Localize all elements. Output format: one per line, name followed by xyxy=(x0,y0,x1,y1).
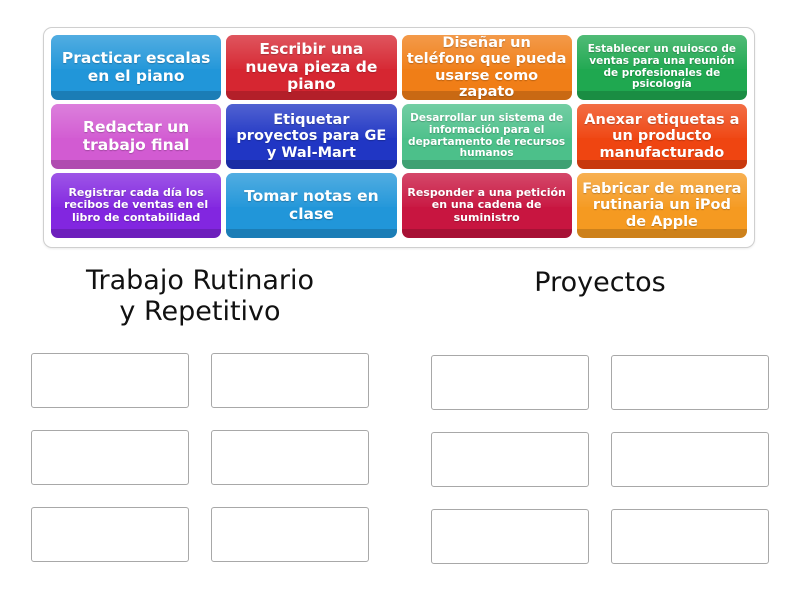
drop-slot[interactable] xyxy=(211,353,369,408)
group-slots-proyectos xyxy=(431,355,769,564)
tile-row: Registrar cada día los recibos de ventas… xyxy=(51,173,747,238)
tile-redactar-trabajo-final[interactable]: Redactar un trabajo final xyxy=(51,104,221,169)
drop-slot[interactable] xyxy=(431,509,589,564)
group-title-line1: Proyectos xyxy=(534,267,665,298)
drop-slot[interactable] xyxy=(431,432,589,487)
drop-slot[interactable] xyxy=(611,509,769,564)
drop-slot[interactable] xyxy=(31,430,189,485)
group-title-line1: Trabajo Rutinario xyxy=(86,265,314,296)
tile-practicar-escalas[interactable]: Practicar escalas en el piano xyxy=(51,35,221,100)
tile-anexar-etiquetas[interactable]: Anexar etiquetas a un producto manufactu… xyxy=(577,104,747,169)
tile-label: Escribir una nueva pieza de piano xyxy=(231,41,391,93)
tile-label: Anexar etiquetas a un producto manufactu… xyxy=(582,112,742,161)
tile-responder-peticion[interactable]: Responder a una petición en una cadena d… xyxy=(402,173,572,238)
drop-slot[interactable] xyxy=(211,430,369,485)
tile-desarrollar-sistema-informacion[interactable]: Desarrollar un sistema de información pa… xyxy=(402,104,572,169)
tile-label: Diseñar un teléfono que pueda usarse com… xyxy=(407,35,567,100)
tile-label: Registrar cada día los recibos de ventas… xyxy=(56,187,216,224)
tile-label: Desarrollar un sistema de información pa… xyxy=(407,113,567,160)
drop-slot[interactable] xyxy=(611,355,769,410)
tile-registrar-recibos[interactable]: Registrar cada día los recibos de ventas… xyxy=(51,173,221,238)
tile-etiquetar-proyectos[interactable]: Etiquetar proyectos para GE y Wal-Mart xyxy=(226,104,396,169)
tile-label: Etiquetar proyectos para GE y Wal-Mart xyxy=(231,112,391,161)
group-proyectos: Proyectos xyxy=(400,265,800,585)
tile-label: Redactar un trabajo final xyxy=(56,119,216,154)
drop-slot[interactable] xyxy=(31,507,189,562)
drop-slot[interactable] xyxy=(431,355,589,410)
tile-row: Redactar un trabajo final Etiquetar proy… xyxy=(51,104,747,169)
tile-fabricar-ipod[interactable]: Fabricar de manera rutinaria un iPod de … xyxy=(577,173,747,238)
drop-area: Trabajo Rutinario y Repetitivo Proyectos xyxy=(0,265,800,585)
tile-label: Establecer un quiosco de ventas para una… xyxy=(582,44,742,91)
tile-label: Tomar notas en clase xyxy=(231,188,391,223)
tile-row: Practicar escalas en el piano Escribir u… xyxy=(51,35,747,100)
tile-tomar-notas[interactable]: Tomar notas en clase xyxy=(226,173,396,238)
tile-disenar-telefono[interactable]: Diseñar un teléfono que pueda usarse com… xyxy=(402,35,572,100)
tile-label: Practicar escalas en el piano xyxy=(56,50,216,85)
tile-label: Responder a una petición en una cadena d… xyxy=(407,187,567,224)
group-slots-trabajo-rutinario xyxy=(31,353,369,562)
tile-establecer-quiosco[interactable]: Establecer un quiosco de ventas para una… xyxy=(577,35,747,100)
drop-slot[interactable] xyxy=(211,507,369,562)
group-title-proyectos: Proyectos xyxy=(534,265,665,339)
drop-slot[interactable] xyxy=(611,432,769,487)
group-title-line2: y Repetitivo xyxy=(86,296,314,327)
tile-escribir-pieza-piano[interactable]: Escribir una nueva pieza de piano xyxy=(226,35,396,100)
tile-label: Fabricar de manera rutinaria un iPod de … xyxy=(582,181,742,230)
tile-tray: Practicar escalas en el piano Escribir u… xyxy=(43,27,755,248)
group-title-trabajo-rutinario: Trabajo Rutinario y Repetitivo xyxy=(86,265,314,337)
group-trabajo-rutinario: Trabajo Rutinario y Repetitivo xyxy=(0,265,400,585)
drop-slot[interactable] xyxy=(31,353,189,408)
